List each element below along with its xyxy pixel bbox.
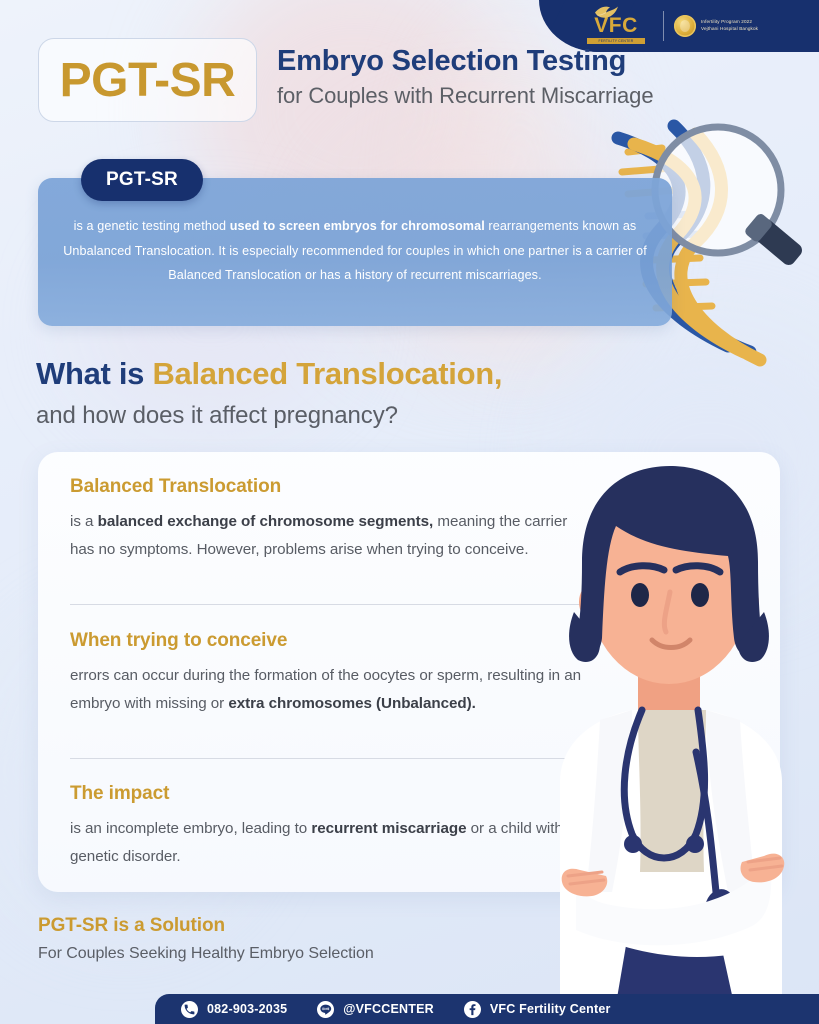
- block-title: When trying to conceive: [70, 630, 590, 652]
- section-heading-accent: Balanced Translocation,: [152, 356, 502, 391]
- brand-divider: [663, 11, 664, 41]
- intro-text-part1: is a genetic testing method: [74, 219, 230, 233]
- facebook-icon: [464, 1001, 481, 1018]
- award-text: Infertility Program 2022 Vejthani Hospit…: [701, 20, 758, 31]
- block-divider: [70, 604, 588, 605]
- section-heading-line2: and how does it affect pregnancy?: [36, 400, 502, 431]
- facebook-page: VFC Fertility Center: [490, 1002, 611, 1016]
- magnifier-icon: [655, 127, 805, 268]
- intro-text: is a genetic testing method used to scre…: [58, 214, 652, 288]
- content-block-balanced-translocation: Balanced Translocation is a balanced exc…: [70, 476, 590, 563]
- dove-icon: [593, 4, 619, 20]
- block-body-bold: extra chromosomes (Unbalanced).: [228, 695, 475, 712]
- line-icon: [317, 1001, 334, 1018]
- section-heading: What is Balanced Translocation, and how …: [36, 355, 502, 431]
- contact-line[interactable]: @VFCCENTER: [317, 1001, 434, 1018]
- poster-header: PGT-SR Embryo Selection Testing for Coup…: [38, 38, 653, 122]
- line-id: @VFCCENTER: [343, 1002, 434, 1016]
- solution-callout: PGT-SR is a Solution For Couples Seeking…: [38, 915, 374, 963]
- block-body: is an incomplete embryo, leading to recu…: [70, 815, 590, 870]
- page-title: Embryo Selection Testing: [277, 44, 653, 78]
- header-titles: Embryo Selection Testing for Couples wit…: [277, 38, 653, 111]
- content-block-the-impact: The impact is an incomplete embryo, lead…: [70, 783, 590, 870]
- block-body-part1: is a: [70, 513, 98, 530]
- intro-text-bold: used to screen embryos for chromosomal: [230, 219, 485, 233]
- pgt-sr-pill: PGT-SR: [81, 159, 203, 201]
- medal-icon: [674, 15, 696, 37]
- solution-title: PGT-SR is a Solution: [38, 915, 374, 937]
- block-body-part1: is an incomplete embryo, leading to: [70, 820, 311, 837]
- page-subtitle: for Couples with Recurrent Miscarriage: [277, 81, 653, 111]
- award-line-1: Infertility Program 2022: [701, 20, 758, 25]
- infographic-poster: VFC FERTILITY CENTER Infertility Program…: [0, 0, 819, 1024]
- content-card: Balanced Translocation is a balanced exc…: [38, 452, 780, 892]
- contact-facebook[interactable]: VFC Fertility Center: [464, 1001, 611, 1018]
- solution-subtitle: For Couples Seeking Healthy Embryo Selec…: [38, 945, 374, 963]
- pgt-sr-pill-label: PGT-SR: [106, 169, 178, 191]
- block-body: is a balanced exchange of chromosome seg…: [70, 508, 590, 563]
- block-title: Balanced Translocation: [70, 476, 590, 498]
- award-badge: Infertility Program 2022 Vejthani Hospit…: [674, 15, 758, 37]
- pgt-sr-badge-label: PGT-SR: [60, 53, 236, 108]
- phone-icon: [181, 1001, 198, 1018]
- award-line-2: Vejthani Hospital Bangkok: [701, 27, 758, 32]
- footer-contact-bar: 082-903-2035 @VFCCENTER VFC Fertility Ce…: [155, 994, 819, 1024]
- block-body-bold: recurrent miscarriage: [311, 820, 466, 837]
- contact-phone[interactable]: 082-903-2035: [181, 1001, 287, 1018]
- section-heading-plain: What is: [36, 356, 152, 391]
- phone-number: 082-903-2035: [207, 1002, 287, 1016]
- block-body: errors can occur during the formation of…: [70, 662, 590, 717]
- block-body-bold: balanced exchange of chromosome segments…: [98, 513, 434, 530]
- pgt-sr-badge-box: PGT-SR: [38, 38, 257, 122]
- section-heading-line1: What is Balanced Translocation,: [36, 355, 502, 394]
- block-title: The impact: [70, 783, 590, 805]
- content-block-when-trying-to-conceive: When trying to conceive errors can occur…: [70, 630, 590, 717]
- block-divider: [70, 758, 588, 759]
